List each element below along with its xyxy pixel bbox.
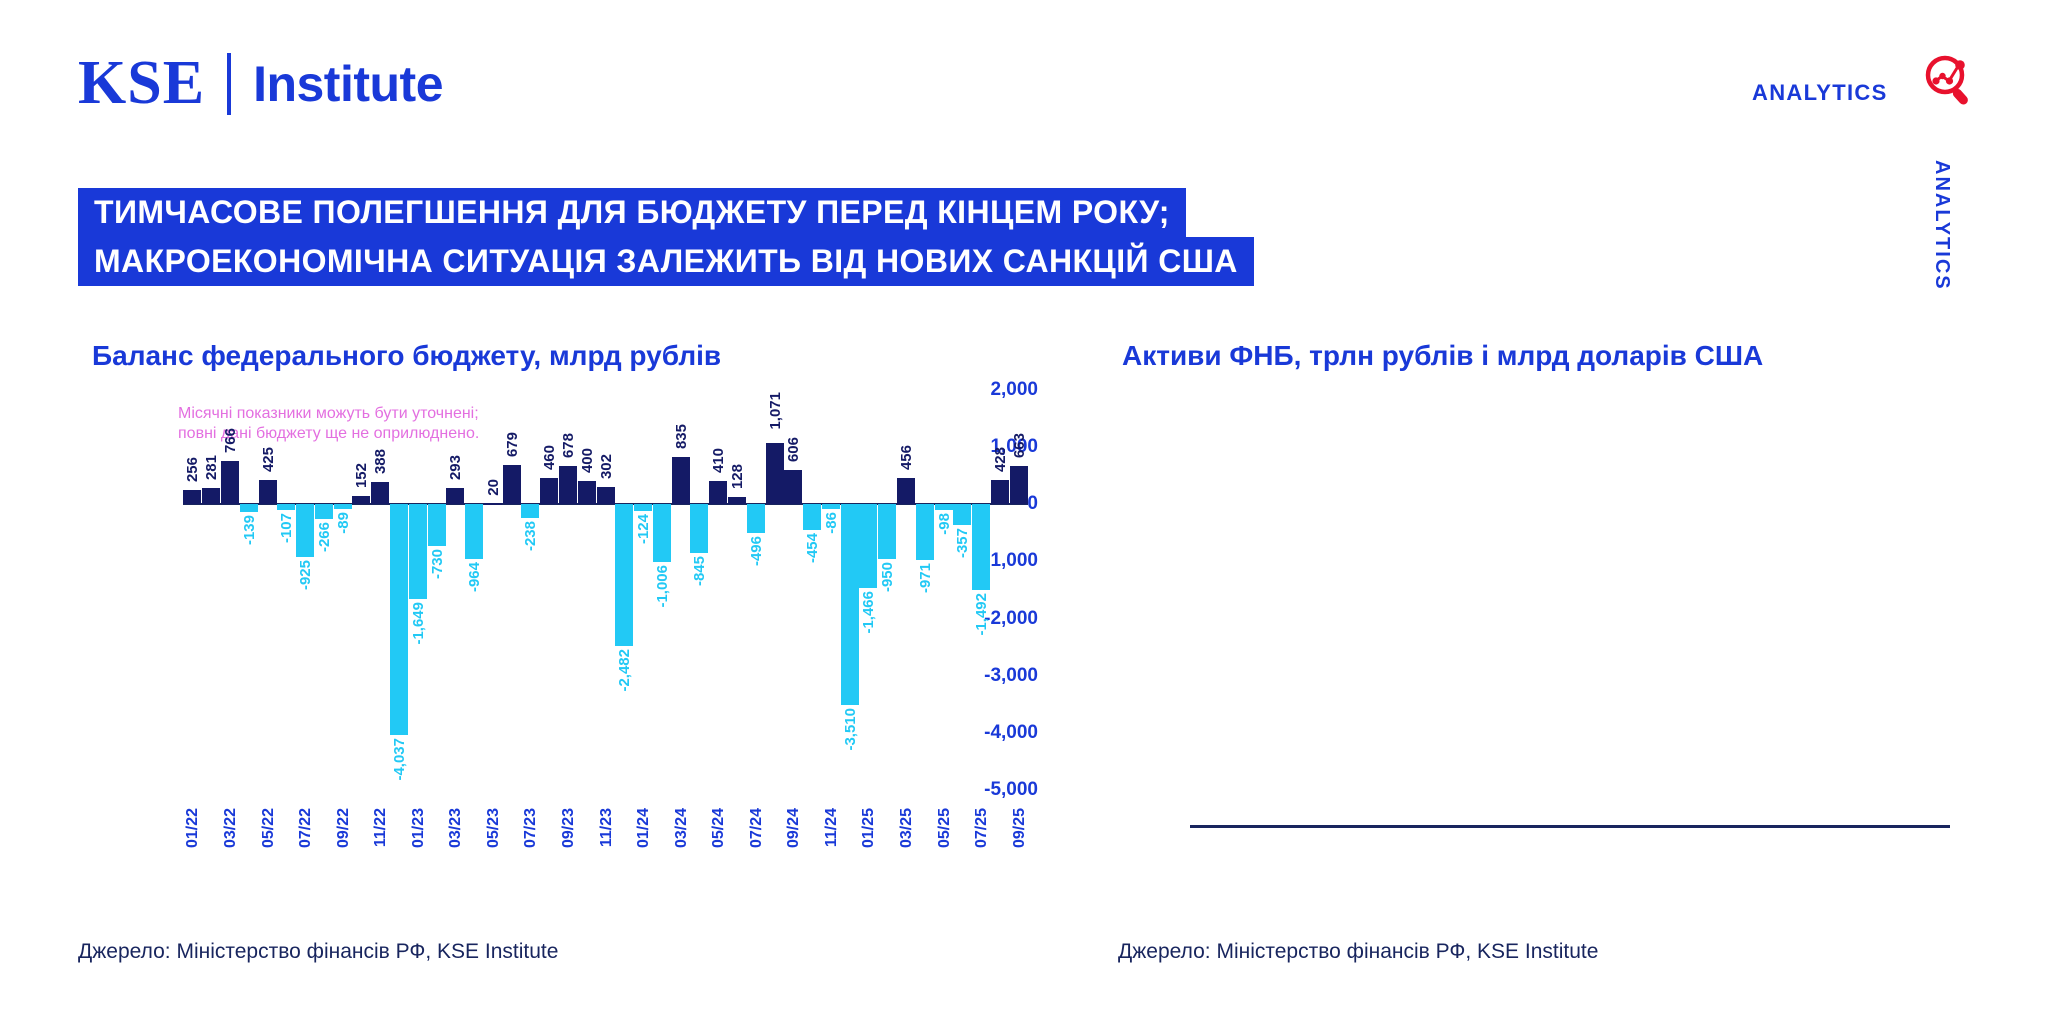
analytics-magnifier-chart-icon: [1920, 52, 1982, 114]
budget-bar-value-label: 388: [372, 449, 389, 474]
budget-bar[interactable]: [615, 504, 633, 646]
left-x-tick: 03/25: [898, 808, 916, 848]
budget-bar[interactable]: [390, 504, 408, 735]
budget-bar-value-label: 1,071: [767, 392, 784, 430]
left-x-tick: 03/23: [447, 808, 465, 848]
budget-bar[interactable]: [540, 478, 558, 504]
budget-bar[interactable]: [484, 503, 502, 505]
budget-bar[interactable]: [634, 504, 652, 511]
budget-bar-value-label: 410: [710, 448, 727, 473]
budget-bar[interactable]: [878, 504, 896, 558]
headline-line-2: МАКРОЕКОНОМІЧНА СИТУАЦІЯ ЗАЛЕЖИТЬ ВІД НО…: [78, 237, 1254, 286]
budget-bar-value-label: 663: [1011, 433, 1028, 458]
budget-bar-value-label: -845: [691, 556, 708, 586]
budget-bar-value-label: -86: [823, 512, 840, 534]
budget-bar[interactable]: [709, 481, 727, 504]
budget-bar-value-label: 152: [353, 463, 370, 488]
budget-bar[interactable]: [672, 457, 690, 505]
left-x-tick: 07/24: [748, 808, 766, 848]
budget-bar-value-label: 302: [598, 454, 615, 479]
logo-institute-text: Institute: [253, 55, 443, 113]
budget-bar[interactable]: [728, 497, 746, 504]
budget-bar[interactable]: [653, 504, 671, 561]
left-x-tick: 05/23: [485, 808, 503, 848]
analytics-label: ANALYTICS: [1752, 80, 1888, 106]
budget-bar[interactable]: [503, 465, 521, 504]
budget-bar[interactable]: [465, 504, 483, 559]
left-chart-source: Джерело: Міністерство фінансів РФ, KSE I…: [78, 940, 558, 964]
left-x-tick: 09/22: [335, 808, 353, 848]
budget-bar[interactable]: [428, 504, 446, 546]
left-x-tick: 05/24: [710, 808, 728, 848]
left-x-tick: 01/22: [184, 808, 202, 848]
budget-bar-value-label: -98: [936, 513, 953, 535]
left-x-tick: 01/25: [860, 808, 878, 848]
budget-bar-value-label: -925: [297, 560, 314, 590]
budget-bar-value-label: -1,006: [654, 565, 671, 608]
left-x-tick: 07/22: [297, 808, 315, 848]
right-chart-baseline: [1190, 825, 1950, 828]
budget-bar[interactable]: [1010, 466, 1028, 504]
budget-bar-value-label: 606: [785, 437, 802, 462]
budget-bar-value-label: -1,492: [973, 593, 990, 636]
budget-bar-value-label: 835: [673, 424, 690, 449]
budget-bar-value-label: 400: [579, 448, 596, 473]
left-x-tick: 09/24: [785, 808, 803, 848]
budget-bar-value-label: 678: [560, 433, 577, 458]
left-x-tick: 11/22: [372, 808, 390, 847]
budget-bar[interactable]: [747, 504, 765, 532]
budget-bar-value-label: 128: [729, 464, 746, 489]
budget-bar-value-label: -107: [278, 513, 295, 543]
budget-bar[interactable]: [277, 504, 295, 510]
budget-bar-value-label: -357: [954, 528, 971, 558]
headline-line-1: ТИМЧАСОВЕ ПОЛЕГШЕННЯ ДЛЯ БЮДЖЕТУ ПЕРЕД К…: [78, 188, 1186, 237]
analytics-vertical-label: ANALYTICS: [1930, 160, 1953, 291]
left-x-tick: 09/23: [560, 808, 578, 848]
budget-bar[interactable]: [352, 496, 370, 505]
budget-bar-value-label: -3,510: [842, 708, 859, 751]
budget-bar-value-label: 425: [260, 447, 277, 472]
budget-bar[interactable]: [822, 504, 840, 509]
budget-bar[interactable]: [521, 504, 539, 518]
budget-bar-value-label: -1,466: [860, 591, 877, 634]
budget-bar[interactable]: [953, 504, 971, 524]
budget-bar[interactable]: [859, 504, 877, 588]
budget-bar[interactable]: [315, 504, 333, 519]
budget-bar-value-label: -4,037: [391, 738, 408, 781]
left-x-tick: 11/23: [598, 808, 616, 847]
federal-budget-balance-chart: 2,0001,0000-1,000-2,000-3,000-4,000-5,00…: [78, 390, 1038, 860]
budget-bar-value-label: 456: [898, 445, 915, 470]
budget-bar[interactable]: [259, 480, 277, 504]
budget-bar[interactable]: [578, 481, 596, 504]
left-x-tick: 09/25: [1011, 808, 1029, 848]
budget-bar[interactable]: [991, 480, 1009, 504]
budget-bar[interactable]: [916, 504, 934, 559]
budget-bar-value-label: -950: [879, 562, 896, 592]
kse-institute-logo: KSE Institute: [78, 48, 443, 119]
logo-kse-text: KSE: [78, 48, 205, 119]
budget-bar-value-label: -124: [635, 514, 652, 544]
right-chart-source: Джерело: Міністерство фінансів РФ, KSE I…: [1118, 940, 1598, 964]
left-x-tick: 11/24: [823, 808, 841, 847]
left-x-tick: 03/24: [673, 808, 691, 848]
budget-bar[interactable]: [972, 504, 990, 589]
budget-bar-value-label: 460: [541, 445, 558, 470]
budget-bar[interactable]: [296, 504, 314, 557]
budget-bar-value-label: -730: [429, 549, 446, 579]
headline-banner: ТИМЧАСОВЕ ПОЛЕГШЕННЯ ДЛЯ БЮДЖЕТУ ПЕРЕД К…: [78, 188, 1254, 286]
budget-bar[interactable]: [690, 504, 708, 552]
budget-bar[interactable]: [597, 487, 615, 504]
left-x-tick: 01/23: [410, 808, 428, 848]
budget-bar[interactable]: [784, 470, 802, 505]
budget-bar-value-label: -454: [804, 533, 821, 563]
budget-bar-value-label: 256: [184, 457, 201, 482]
budget-bar-value-label: -971: [917, 563, 934, 593]
right-chart-title: Активи ФНБ, трлн рублів і млрд доларів С…: [1122, 340, 1763, 372]
budget-bar[interactable]: [183, 490, 201, 505]
budget-bar[interactable]: [766, 443, 784, 504]
budget-bar[interactable]: [897, 478, 915, 504]
budget-bar-value-label: 428: [992, 447, 1009, 472]
budget-bar-value-label: 20: [485, 479, 502, 496]
left-chart-title: Баланс федерального бюджету, млрд рублів: [92, 340, 721, 372]
budget-bar-value-label: 281: [203, 455, 220, 480]
budget-bar-value-label: -89: [335, 512, 352, 534]
budget-bar[interactable]: [202, 488, 220, 504]
budget-bar-value-label: 293: [447, 455, 464, 480]
budget-bar[interactable]: [371, 482, 389, 504]
budget-bar[interactable]: [559, 466, 577, 505]
left-x-tick: 03/22: [222, 808, 240, 848]
budget-bar-value-label: -1,649: [410, 602, 427, 645]
budget-bar-value-label: -964: [466, 562, 483, 592]
logo-divider: [227, 53, 231, 115]
budget-bar[interactable]: [240, 504, 258, 512]
page-header: KSE Institute ANALYTICS ANALYTICS: [0, 0, 2048, 150]
budget-bar-value-label: 766: [222, 428, 239, 453]
nwf-assets-chart: [1118, 390, 2018, 860]
budget-bar[interactable]: [409, 504, 427, 598]
left-x-tick: 05/22: [260, 808, 278, 848]
budget-bar[interactable]: [446, 488, 464, 505]
budget-bar[interactable]: [334, 504, 352, 509]
budget-bar-value-label: 679: [504, 432, 521, 457]
budget-bar-value-label: -496: [748, 536, 765, 566]
left-x-tick: 01/24: [635, 808, 653, 848]
right-chart-plot-area: [1190, 438, 1950, 828]
left-chart-plot-area: 256281766-139425-107-925-266-89152388-4,…: [183, 390, 1028, 790]
budget-bar[interactable]: [221, 461, 239, 505]
budget-bar[interactable]: [935, 504, 953, 510]
left-x-tick: 07/25: [973, 808, 991, 848]
budget-bar[interactable]: [841, 504, 859, 705]
budget-bar-value-label: -266: [316, 522, 333, 552]
budget-bar[interactable]: [803, 504, 821, 530]
budget-bar-value-label: -238: [522, 521, 539, 551]
budget-bar-value-label: -139: [241, 515, 258, 545]
left-x-tick: 05/25: [936, 808, 954, 848]
budget-bar-value-label: -2,482: [616, 649, 633, 692]
left-x-tick: 07/23: [522, 808, 540, 848]
